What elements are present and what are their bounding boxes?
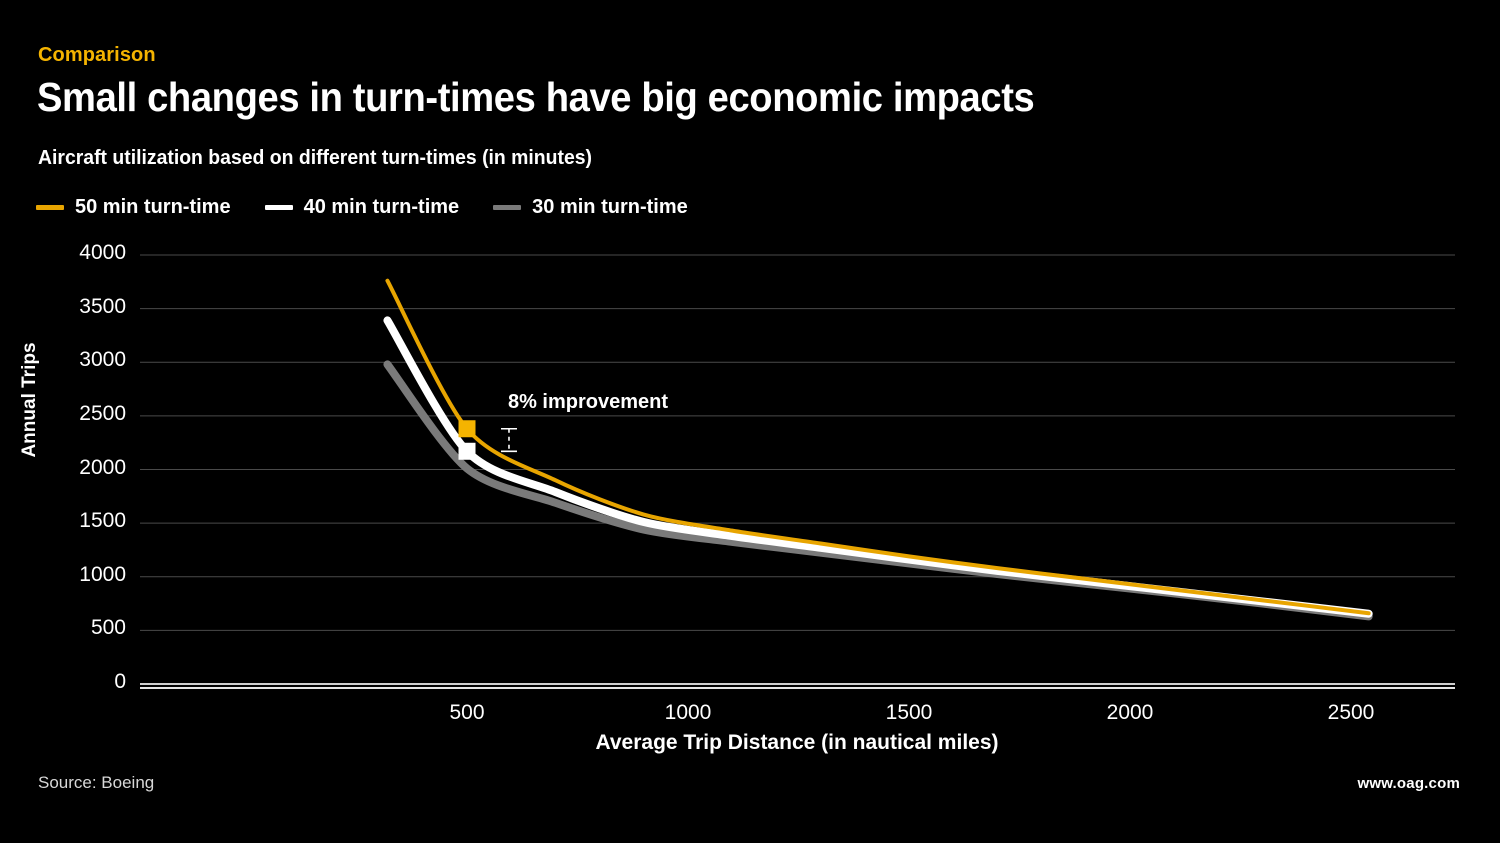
y-tick-label: 2500 bbox=[26, 402, 126, 426]
x-tick-label: 500 bbox=[407, 701, 527, 725]
y-tick-label: 500 bbox=[26, 616, 126, 640]
y-tick-label: 3500 bbox=[26, 295, 126, 319]
y-tick-label: 1000 bbox=[26, 563, 126, 587]
x-tick-label: 1000 bbox=[628, 701, 748, 725]
site-url: www.oag.com bbox=[1358, 775, 1461, 792]
y-tick-label: 0 bbox=[26, 670, 126, 694]
data-marker-2 bbox=[459, 443, 476, 460]
x-tick-label: 2500 bbox=[1291, 701, 1411, 725]
y-tick-label: 4000 bbox=[26, 241, 126, 265]
improvement-annotation-label: 8% improvement bbox=[508, 391, 668, 414]
data-marker-1 bbox=[459, 420, 476, 437]
x-tick-label: 1500 bbox=[849, 701, 969, 725]
x-tick-label: 2000 bbox=[1070, 701, 1190, 725]
y-tick-label: 3000 bbox=[26, 348, 126, 372]
source-note: Source: Boeing bbox=[38, 773, 154, 793]
chart-page: Comparison Small changes in turn-times h… bbox=[0, 0, 1500, 843]
chart-plot-area: Annual Trips Average Trip Distance (in n… bbox=[0, 0, 1500, 843]
plot-canvas bbox=[0, 0, 1500, 843]
y-tick-label: 2000 bbox=[26, 456, 126, 480]
series-line-40-min-turn-time bbox=[387, 320, 1368, 613]
y-tick-label: 1500 bbox=[26, 509, 126, 533]
